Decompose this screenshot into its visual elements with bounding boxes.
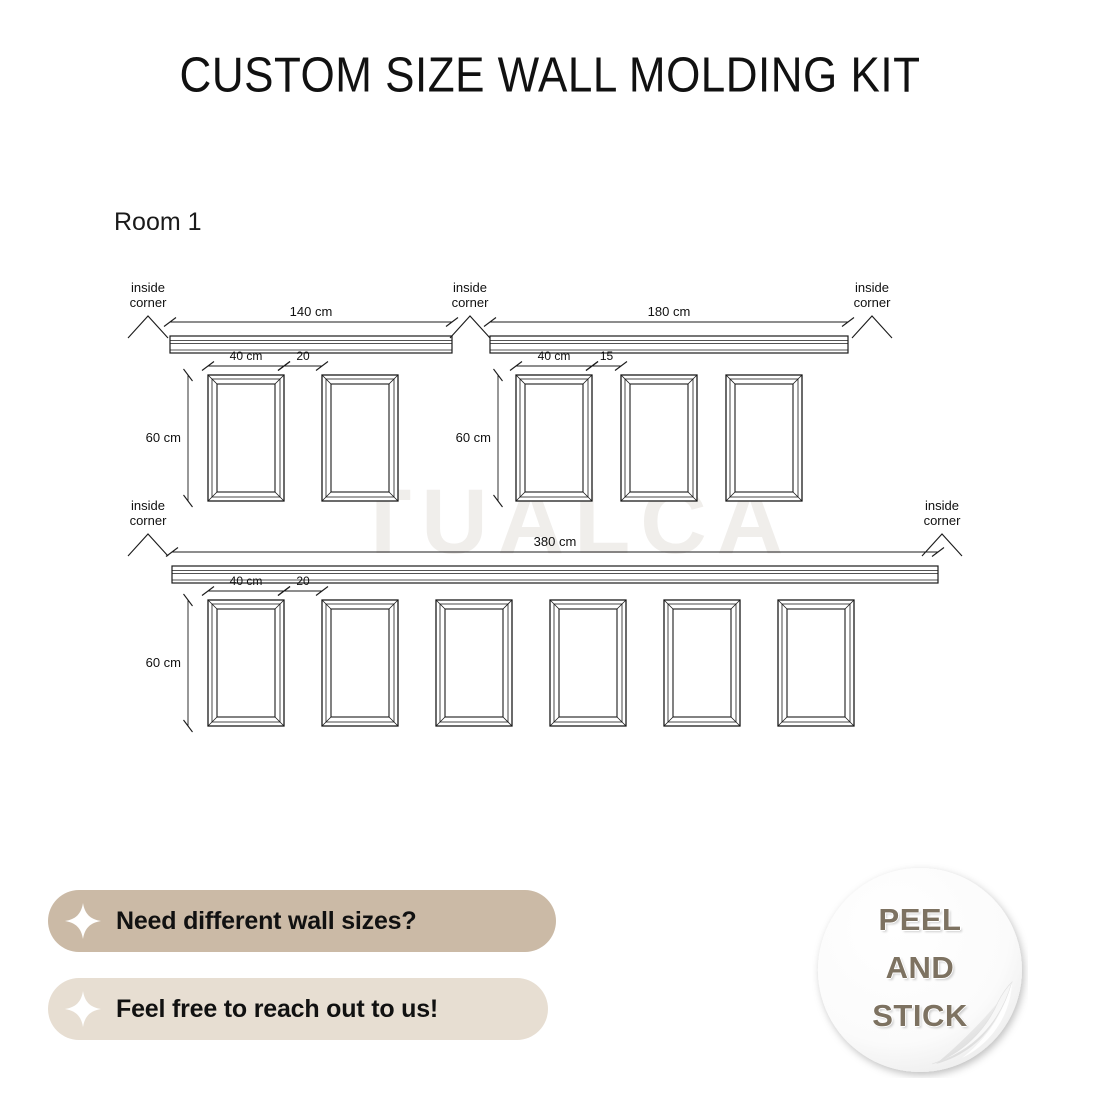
wall-3-gap-label: 20 [296, 574, 310, 588]
wall-2-gap-label: 15 [600, 349, 614, 363]
wall-3-molding-strip [172, 566, 938, 583]
wall-3-length-label: 380 cm [534, 534, 577, 549]
wall-3-panel-4 [550, 600, 626, 726]
wall-3-corner-right-label-2: corner [924, 513, 962, 528]
wall-1-corner-left-label-2: corner [130, 295, 168, 310]
wall-3-panel-width-label: 40 cm [230, 574, 263, 588]
wall-2-corner-left-label-1: inside [453, 280, 487, 295]
wall-1-molding-strip [170, 336, 452, 353]
wall-3-panel-6 [778, 600, 854, 726]
wall-2-corner-right-chevron-icon [852, 316, 892, 338]
wall-2-panel-1 [516, 375, 592, 501]
wall-1-gap-label: 20 [296, 349, 310, 363]
wall-3-panel-5 [664, 600, 740, 726]
wall-3-corner-left-label-2: corner [130, 513, 168, 528]
wall-3-corner-left-chevron-icon [128, 534, 168, 556]
banner-need-sizes[interactable]: Need different wall sizes? [48, 890, 556, 952]
wall-3-panel-2 [322, 600, 398, 726]
wall-molding-diagram: insidecorner140 cm40 cm2060 cminsidecorn… [0, 0, 1100, 820]
wall-2-corner-right-label-1: inside [855, 280, 889, 295]
wall-2-corner-right-label-2: corner [854, 295, 892, 310]
wall-3-panel-3 [436, 600, 512, 726]
sparkle-star-icon [64, 990, 102, 1028]
wall-1-corner-left-chevron-icon [128, 316, 168, 338]
wall-3-corner-right-label-1: inside [925, 498, 959, 513]
wall-1-height-label: 60 cm [146, 430, 181, 445]
wall-1-length-label: 140 cm [290, 304, 333, 319]
wall-2-length-label: 180 cm [648, 304, 691, 319]
wall-2-height-label: 60 cm [456, 430, 491, 445]
sticker-line-2: AND [812, 950, 1028, 986]
sparkle-star-icon [64, 902, 102, 940]
wall-1-panel-width-label: 40 cm [230, 349, 263, 363]
wall-2-panel-2 [621, 375, 697, 501]
wall-2-panel-3 [726, 375, 802, 501]
wall-1-corner-left-label-1: inside [131, 280, 165, 295]
wall-2-panel-width-label: 40 cm [538, 349, 571, 363]
wall-2-corner-left-label-2: corner [452, 295, 490, 310]
sticker-line-1: PEEL [812, 902, 1028, 938]
wall-1-panel-2 [322, 375, 398, 501]
peel-and-stick-sticker: PEEL AND STICK [812, 862, 1028, 1078]
banner-need-sizes-label: Need different wall sizes? [116, 907, 416, 936]
sticker-line-3: STICK [812, 998, 1028, 1034]
wall-3-panel-1 [208, 600, 284, 726]
banner-reach-out[interactable]: Feel free to reach out to us! [48, 978, 548, 1040]
wall-3-corner-left-label-1: inside [131, 498, 165, 513]
page-root: CUSTOM SIZE WALL MOLDING KIT Room 1 TUAL… [0, 0, 1100, 1100]
wall-3-height-label: 60 cm [146, 655, 181, 670]
banner-reach-out-label: Feel free to reach out to us! [116, 995, 438, 1024]
wall-1-panel-1 [208, 375, 284, 501]
wall-3-corner-right-chevron-icon [922, 534, 962, 556]
